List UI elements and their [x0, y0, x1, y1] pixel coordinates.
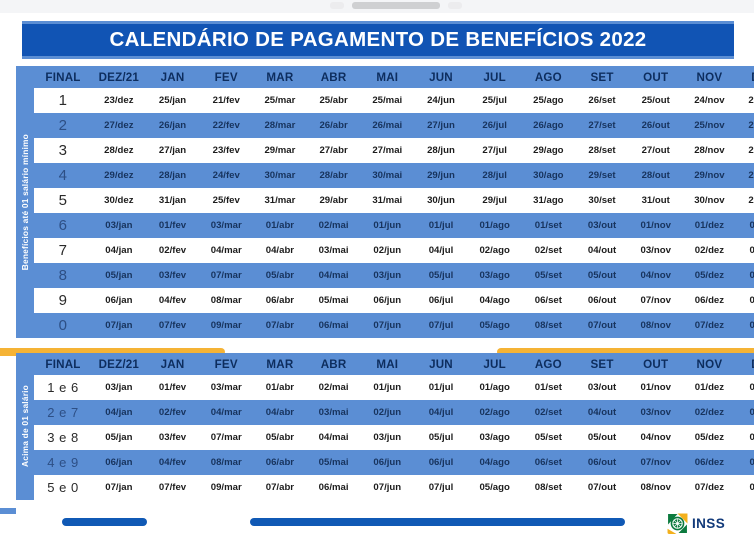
payment-date-cell: 03/jun: [360, 263, 414, 288]
payment-date-cell: 06/abr: [253, 288, 307, 313]
row-final-digit: 7: [34, 238, 92, 263]
payment-date-cell: 03/fev: [146, 425, 200, 450]
inss-emblem-icon: [667, 513, 688, 534]
payment-date-cell: 29/nov: [683, 163, 737, 188]
payment-date-cell: 04/jan: [736, 425, 754, 450]
column-header-nov: NOV: [683, 353, 737, 375]
payment-date-cell: 26/dez: [736, 113, 754, 138]
browser-top-strip: [0, 0, 754, 13]
payment-date-cell: 27/jul: [468, 138, 522, 163]
payment-date-cell: 02/jun: [360, 400, 414, 425]
row-final-digit: 6: [34, 213, 92, 238]
payment-date-cell: 05/jan: [92, 263, 146, 288]
browser-tab-ghost-left: [330, 2, 344, 9]
table-row: 5 e 007/jan07/fev09/mar07/abr06/mai07/ju…: [34, 475, 754, 500]
payment-date-cell: 04/nov: [629, 263, 683, 288]
payment-date-cell: 27/mai: [360, 138, 414, 163]
payment-date-cell: 05/mai: [307, 450, 361, 475]
row-final-digit: 1 e 6: [34, 375, 92, 400]
payment-date-cell: 29/mar: [253, 138, 307, 163]
row-final-digit: 2 e 7: [34, 400, 92, 425]
payment-date-cell: 27/dez: [92, 113, 146, 138]
column-header-final: FINAL: [34, 66, 92, 88]
payment-date-cell: 03/out: [575, 213, 629, 238]
column-header-jun: JUN: [414, 66, 468, 88]
table-row: 1 e 603/jan01/fev03/mar01/abr02/mai01/ju…: [34, 375, 754, 400]
payment-date-cell: 27/dez: [736, 138, 754, 163]
column-header-dez: DEZ: [736, 353, 754, 375]
payment-date-cell: 08/nov: [629, 313, 683, 338]
payment-date-cell: 05/dez: [683, 425, 737, 450]
column-header-set: SET: [575, 66, 629, 88]
column-header-dez: DEZ: [736, 66, 754, 88]
payment-date-cell: 23/dez: [92, 88, 146, 113]
payment-date-cell: 29/jun: [414, 163, 468, 188]
payment-date-cell: 25/out: [629, 88, 683, 113]
payment-date-cell: 02/jan: [736, 213, 754, 238]
payment-date-cell: 07/jul: [414, 475, 468, 500]
calendar-table-2-head: FINALDEZ/21JANFEVMARABRMAIJUNJULAGOSETOU…: [34, 353, 754, 375]
payment-date-cell: 04/jan: [736, 263, 754, 288]
payment-date-cell: 23/fev: [199, 138, 253, 163]
payment-date-cell: 26/abr: [307, 113, 361, 138]
footer-corner-accent: [0, 508, 16, 514]
payment-date-cell: 03/mar: [199, 213, 253, 238]
payment-date-cell: 07/mar: [199, 263, 253, 288]
payment-date-cell: 04/jul: [414, 400, 468, 425]
column-header-set: SET: [575, 353, 629, 375]
table-row: 007/jan07/fev09/mar07/abr06/mai07/jun07/…: [34, 313, 754, 338]
column-header-mar: MAR: [253, 353, 307, 375]
payment-date-cell: 03/ago: [468, 425, 522, 450]
section-side-label-1-text: Benefícios até 01 salário mínimo: [20, 134, 30, 270]
payment-date-cell: 28/out: [629, 163, 683, 188]
payment-date-cell: 04/abr: [253, 238, 307, 263]
payment-date-cell: 29/dez: [736, 188, 754, 213]
payment-date-cell: 08/mar: [199, 450, 253, 475]
payment-date-cell: 01/fev: [146, 375, 200, 400]
payment-date-cell: 24/fev: [199, 163, 253, 188]
payment-date-cell: 01/dez: [683, 213, 737, 238]
payment-date-cell: 25/abr: [307, 88, 361, 113]
payment-date-cell: 07/dez: [683, 475, 737, 500]
payment-date-cell: 06/abr: [253, 450, 307, 475]
inss-logo: INSS: [667, 513, 725, 534]
payment-date-cell: 06/jan: [92, 288, 146, 313]
payment-date-cell: 04/out: [575, 238, 629, 263]
payment-date-cell: 25/ago: [522, 88, 576, 113]
payment-date-cell: 25/fev: [199, 188, 253, 213]
payment-date-cell: 03/mar: [199, 375, 253, 400]
calendar-table-2: FINALDEZ/21JANFEVMARABRMAIJUNJULAGOSETOU…: [34, 353, 754, 500]
payment-date-cell: 26/ago: [522, 113, 576, 138]
payment-date-cell: 31/out: [629, 188, 683, 213]
table-row: 906/jan04/fev08/mar06/abr05/mai06/jun06/…: [34, 288, 754, 313]
payment-date-cell: 29/jul: [468, 188, 522, 213]
payment-date-cell: 03/out: [575, 375, 629, 400]
browser-tab-ghost-right: [448, 2, 462, 9]
column-header-out: OUT: [629, 66, 683, 88]
payment-date-cell: 01/ago: [468, 375, 522, 400]
table-row: 123/dez25/jan21/fev25/mar25/abr25/mai24/…: [34, 88, 754, 113]
payment-date-cell: 01/jun: [360, 213, 414, 238]
payment-date-cell: 30/mar: [253, 163, 307, 188]
payment-date-cell: 07/jan: [92, 313, 146, 338]
payment-date-cell: 28/jan: [146, 163, 200, 188]
row-final-digit: 3: [34, 138, 92, 163]
column-header-abr: ABR: [307, 353, 361, 375]
payment-date-cell: 25/mar: [253, 88, 307, 113]
payment-date-cell: 08/set: [522, 313, 576, 338]
payment-date-cell: 28/jul: [468, 163, 522, 188]
payment-date-cell: 03/jan: [92, 213, 146, 238]
payment-date-cell: 30/nov: [683, 188, 737, 213]
column-header-mai: MAI: [360, 353, 414, 375]
payment-date-cell: 02/jun: [360, 238, 414, 263]
payment-date-cell: 07/nov: [629, 450, 683, 475]
payment-date-cell: 02/fev: [146, 238, 200, 263]
payment-date-cell: 01/fev: [146, 213, 200, 238]
calendar-table-2-body: 1 e 603/jan01/fev03/mar01/abr02/mai01/ju…: [34, 375, 754, 500]
page-title: CALENDÁRIO DE PAGAMENTO DE BENEFÍCIOS 20…: [110, 28, 647, 52]
payment-date-cell: 05/jan: [92, 425, 146, 450]
table-row: 3 e 805/jan03/fev07/mar05/abr04/mai03/ju…: [34, 425, 754, 450]
payment-date-cell: 07/abr: [253, 475, 307, 500]
table-row: 2 e 704/jan02/fev04/mar04/abr03/mai02/ju…: [34, 400, 754, 425]
payment-date-cell: 05/set: [522, 263, 576, 288]
payment-date-cell: 03/nov: [629, 400, 683, 425]
payment-date-cell: 01/nov: [629, 213, 683, 238]
payment-date-cell: 07/nov: [629, 288, 683, 313]
table-header-row: FINALDEZ/21JANFEVMARABRMAIJUNJULAGOSETOU…: [34, 353, 754, 375]
payment-date-cell: 04/fev: [146, 450, 200, 475]
payment-date-cell: 07/jul: [414, 313, 468, 338]
row-final-digit: 5 e 0: [34, 475, 92, 500]
payment-date-cell: 04/jan: [92, 400, 146, 425]
payment-date-cell: 06/jun: [360, 288, 414, 313]
table-row: 227/dez26/jan22/fev28/mar26/abr26/mai27/…: [34, 113, 754, 138]
payment-date-cell: 06/out: [575, 288, 629, 313]
payment-date-cell: 31/ago: [522, 188, 576, 213]
payment-date-cell: 29/dez: [92, 163, 146, 188]
column-header-ago: AGO: [522, 353, 576, 375]
calendar-table-1-body: 123/dez25/jan21/fev25/mar25/abr25/mai24/…: [34, 88, 754, 338]
banner-frame: CALENDÁRIO DE PAGAMENTO DE BENEFÍCIOS 20…: [22, 21, 734, 59]
row-final-digit: 1: [34, 88, 92, 113]
payment-date-cell: 03/ago: [468, 263, 522, 288]
payment-date-cell: 02/dez: [683, 238, 737, 263]
row-final-digit: 9: [34, 288, 92, 313]
payment-date-cell: 06/out: [575, 450, 629, 475]
payment-date-cell: 01/ago: [468, 213, 522, 238]
payment-date-cell: 03/jan: [736, 238, 754, 263]
payment-date-cell: 06/set: [522, 450, 576, 475]
payment-date-cell: 06/dez: [683, 288, 737, 313]
row-final-digit: 4 e 9: [34, 450, 92, 475]
column-header-jan: JAN: [146, 66, 200, 88]
payment-date-cell: 05/out: [575, 425, 629, 450]
payment-date-cell: 04/mai: [307, 425, 361, 450]
payment-date-cell: 04/mar: [199, 400, 253, 425]
payment-date-cell: 06/jun: [360, 450, 414, 475]
payment-date-cell: 02/mai: [307, 375, 361, 400]
payment-date-cell: 28/nov: [683, 138, 737, 163]
payment-date-cell: 03/nov: [629, 238, 683, 263]
column-header-dez-21: DEZ/21: [92, 353, 146, 375]
payment-date-cell: 08/set: [522, 475, 576, 500]
payment-date-cell: 27/abr: [307, 138, 361, 163]
table-row: 328/dez27/jan23/fev29/mar27/abr27/mai28/…: [34, 138, 754, 163]
payment-date-cell: 05/jan: [736, 288, 754, 313]
payment-date-cell: 05/mai: [307, 288, 361, 313]
payment-date-cell: 01/dez: [683, 375, 737, 400]
payment-date-cell: 02/mai: [307, 213, 361, 238]
payment-date-cell: 30/ago: [522, 163, 576, 188]
payment-date-cell: 03/jan: [736, 400, 754, 425]
payment-date-cell: 05/jul: [414, 263, 468, 288]
calendar-table-1-head: FINALDEZ/21JANFEVMARABRMAIJUNJULAGOSETOU…: [34, 66, 754, 88]
payment-date-cell: 30/set: [575, 188, 629, 213]
payment-date-cell: 06/jul: [414, 450, 468, 475]
payment-date-cell: 09/mar: [199, 475, 253, 500]
payment-date-cell: 27/out: [629, 138, 683, 163]
payment-date-cell: 26/out: [629, 113, 683, 138]
payment-date-cell: 25/jul: [468, 88, 522, 113]
table-header-row: FINALDEZ/21JANFEVMARABRMAIJUNJULAGOSETOU…: [34, 66, 754, 88]
payment-date-cell: 01/set: [522, 213, 576, 238]
payment-date-cell: 31/mar: [253, 188, 307, 213]
row-final-digit: 2: [34, 113, 92, 138]
footer-bar-short: [62, 518, 147, 526]
column-header-mai: MAI: [360, 66, 414, 88]
payment-date-cell: 07/mar: [199, 425, 253, 450]
payment-date-cell: 04/ago: [468, 288, 522, 313]
table-row: 704/jan02/fev04/mar04/abr03/mai02/jun04/…: [34, 238, 754, 263]
payment-date-cell: 29/set: [575, 163, 629, 188]
payment-date-cell: 30/dez: [92, 188, 146, 213]
row-final-digit: 5: [34, 188, 92, 213]
payment-date-cell: 01/abr: [253, 213, 307, 238]
payment-date-cell: 01/nov: [629, 375, 683, 400]
column-header-jun: JUN: [414, 353, 468, 375]
payment-date-cell: 02/set: [522, 400, 576, 425]
payment-date-cell: 03/fev: [146, 263, 200, 288]
payment-date-cell: 04/mai: [307, 263, 361, 288]
column-header-fev: FEV: [199, 66, 253, 88]
payment-date-cell: 06/mai: [307, 475, 361, 500]
payment-date-cell: 06/set: [522, 288, 576, 313]
payment-date-cell: 29/abr: [307, 188, 361, 213]
payment-date-cell: 27/jun: [414, 113, 468, 138]
payment-date-cell: 06/jan: [736, 313, 754, 338]
payment-date-cell: 06/mai: [307, 313, 361, 338]
payment-date-cell: 03/jun: [360, 425, 414, 450]
table-row: 603/jan01/fev03/mar01/abr02/mai01/jun01/…: [34, 213, 754, 238]
payment-date-cell: 29/ago: [522, 138, 576, 163]
payment-date-cell: 28/mar: [253, 113, 307, 138]
column-header-fev: FEV: [199, 353, 253, 375]
column-header-out: OUT: [629, 353, 683, 375]
calendar-table-1: FINALDEZ/21JANFEVMARABRMAIJUNJULAGOSETOU…: [34, 66, 754, 338]
payment-date-cell: 05/out: [575, 263, 629, 288]
payment-date-cell: 22/fev: [199, 113, 253, 138]
payment-date-cell: 02/ago: [468, 400, 522, 425]
payment-date-cell: 03/mai: [307, 238, 361, 263]
payment-date-cell: 23/dez: [736, 88, 754, 113]
footer-bar-long: [250, 518, 625, 526]
payment-date-cell: 28/set: [575, 138, 629, 163]
page-footer: INSS: [0, 508, 754, 542]
payment-date-cell: 06/jul: [414, 288, 468, 313]
payment-date-cell: 03/mai: [307, 400, 361, 425]
row-final-digit: 8: [34, 263, 92, 288]
payment-date-cell: 06/dez: [683, 450, 737, 475]
payment-date-cell: 05/jul: [414, 425, 468, 450]
table-row: 4 e 906/jan04/fev08/mar06/abr05/mai06/ju…: [34, 450, 754, 475]
browser-active-tab[interactable]: [352, 2, 440, 9]
payment-date-cell: 08/mar: [199, 288, 253, 313]
row-final-digit: 3 e 8: [34, 425, 92, 450]
payment-date-cell: 06/jan: [92, 450, 146, 475]
payment-date-cell: 07/out: [575, 313, 629, 338]
payment-date-cell: 04/mar: [199, 238, 253, 263]
table-row: 530/dez31/jan25/fev31/mar29/abr31/mai30/…: [34, 188, 754, 213]
payment-date-cell: 25/nov: [683, 113, 737, 138]
payment-date-cell: 27/jan: [146, 138, 200, 163]
payment-date-cell: 26/jan: [146, 113, 200, 138]
column-header-ago: AGO: [522, 66, 576, 88]
payment-date-cell: 07/fev: [146, 475, 200, 500]
payment-date-cell: 21/fev: [199, 88, 253, 113]
payment-date-cell: 04/nov: [629, 425, 683, 450]
payment-date-cell: 30/mai: [360, 163, 414, 188]
payment-date-cell: 26/mai: [360, 113, 414, 138]
payment-date-cell: 26/jul: [468, 113, 522, 138]
payment-date-cell: 08/nov: [629, 475, 683, 500]
section-beneficios-ate-1-salario: Benefícios até 01 salário mínimo FINALDE…: [16, 66, 738, 338]
payment-date-cell: 07/fev: [146, 313, 200, 338]
payment-date-cell: 02/dez: [683, 400, 737, 425]
payment-date-cell: 01/jun: [360, 375, 414, 400]
payment-date-cell: 04/ago: [468, 450, 522, 475]
row-final-digit: 4: [34, 163, 92, 188]
payment-date-cell: 30/jun: [414, 188, 468, 213]
payment-date-cell: 07/dez: [683, 313, 737, 338]
payment-date-cell: 28/abr: [307, 163, 361, 188]
payment-date-cell: 02/ago: [468, 238, 522, 263]
payment-date-cell: 01/set: [522, 375, 576, 400]
payment-date-cell: 25/mai: [360, 88, 414, 113]
payment-date-cell: 05/abr: [253, 425, 307, 450]
payment-date-cell: 01/jul: [414, 375, 468, 400]
column-header-abr: ABR: [307, 66, 361, 88]
payment-date-cell: 05/set: [522, 425, 576, 450]
section-side-label-2-text: Acima de 01 salário: [20, 385, 30, 467]
payment-date-cell: 04/fev: [146, 288, 200, 313]
payment-date-cell: 02/set: [522, 238, 576, 263]
row-final-digit: 0: [34, 313, 92, 338]
payment-date-cell: 07/jun: [360, 475, 414, 500]
banner: CALENDÁRIO DE PAGAMENTO DE BENEFÍCIOS 20…: [22, 24, 734, 56]
table-row: 805/jan03/fev07/mar05/abr04/mai03/jun05/…: [34, 263, 754, 288]
payment-date-cell: 31/mai: [360, 188, 414, 213]
payment-date-cell: 07/jan: [92, 475, 146, 500]
section-acima-1-salario: Acima de 01 salário FINALDEZ/21JANFEVMAR…: [16, 353, 738, 500]
payment-date-cell: 24/jun: [414, 88, 468, 113]
column-header-final: FINAL: [34, 353, 92, 375]
column-header-jul: JUL: [468, 353, 522, 375]
payment-date-cell: 07/out: [575, 475, 629, 500]
payment-date-cell: 28/dez: [92, 138, 146, 163]
payment-date-cell: 01/jul: [414, 213, 468, 238]
payment-date-cell: 05/jan: [736, 450, 754, 475]
payment-date-cell: 01/abr: [253, 375, 307, 400]
payment-date-cell: 02/jan: [736, 375, 754, 400]
payment-date-cell: 25/jan: [146, 88, 200, 113]
payment-date-cell: 02/fev: [146, 400, 200, 425]
payment-date-cell: 24/nov: [683, 88, 737, 113]
payment-date-cell: 04/out: [575, 400, 629, 425]
column-header-nov: NOV: [683, 66, 737, 88]
payment-date-cell: 04/abr: [253, 400, 307, 425]
section-side-label-2: Acima de 01 salário: [16, 353, 34, 500]
column-header-mar: MAR: [253, 66, 307, 88]
payment-date-cell: 05/abr: [253, 263, 307, 288]
payment-date-cell: 03/jan: [92, 375, 146, 400]
payment-date-cell: 07/abr: [253, 313, 307, 338]
payment-date-cell: 26/set: [575, 88, 629, 113]
payment-date-cell: 04/jul: [414, 238, 468, 263]
payment-date-cell: 04/jan: [92, 238, 146, 263]
calendar-page: CALENDÁRIO DE PAGAMENTO DE BENEFÍCIOS 20…: [0, 13, 754, 529]
payment-date-cell: 06/jan: [736, 475, 754, 500]
payment-date-cell: 05/dez: [683, 263, 737, 288]
payment-date-cell: 27/set: [575, 113, 629, 138]
column-header-jul: JUL: [468, 66, 522, 88]
section-side-label-1: Benefícios até 01 salário mínimo: [16, 66, 34, 338]
payment-date-cell: 05/ago: [468, 475, 522, 500]
column-header-dez-21: DEZ/21: [92, 66, 146, 88]
payment-date-cell: 07/jun: [360, 313, 414, 338]
payment-date-cell: 09/mar: [199, 313, 253, 338]
payment-date-cell: 28/jun: [414, 138, 468, 163]
payment-date-cell: 05/ago: [468, 313, 522, 338]
payment-date-cell: 28/dez: [736, 163, 754, 188]
table-row: 429/dez28/jan24/fev30/mar28/abr30/mai29/…: [34, 163, 754, 188]
column-header-jan: JAN: [146, 353, 200, 375]
payment-date-cell: 31/jan: [146, 188, 200, 213]
